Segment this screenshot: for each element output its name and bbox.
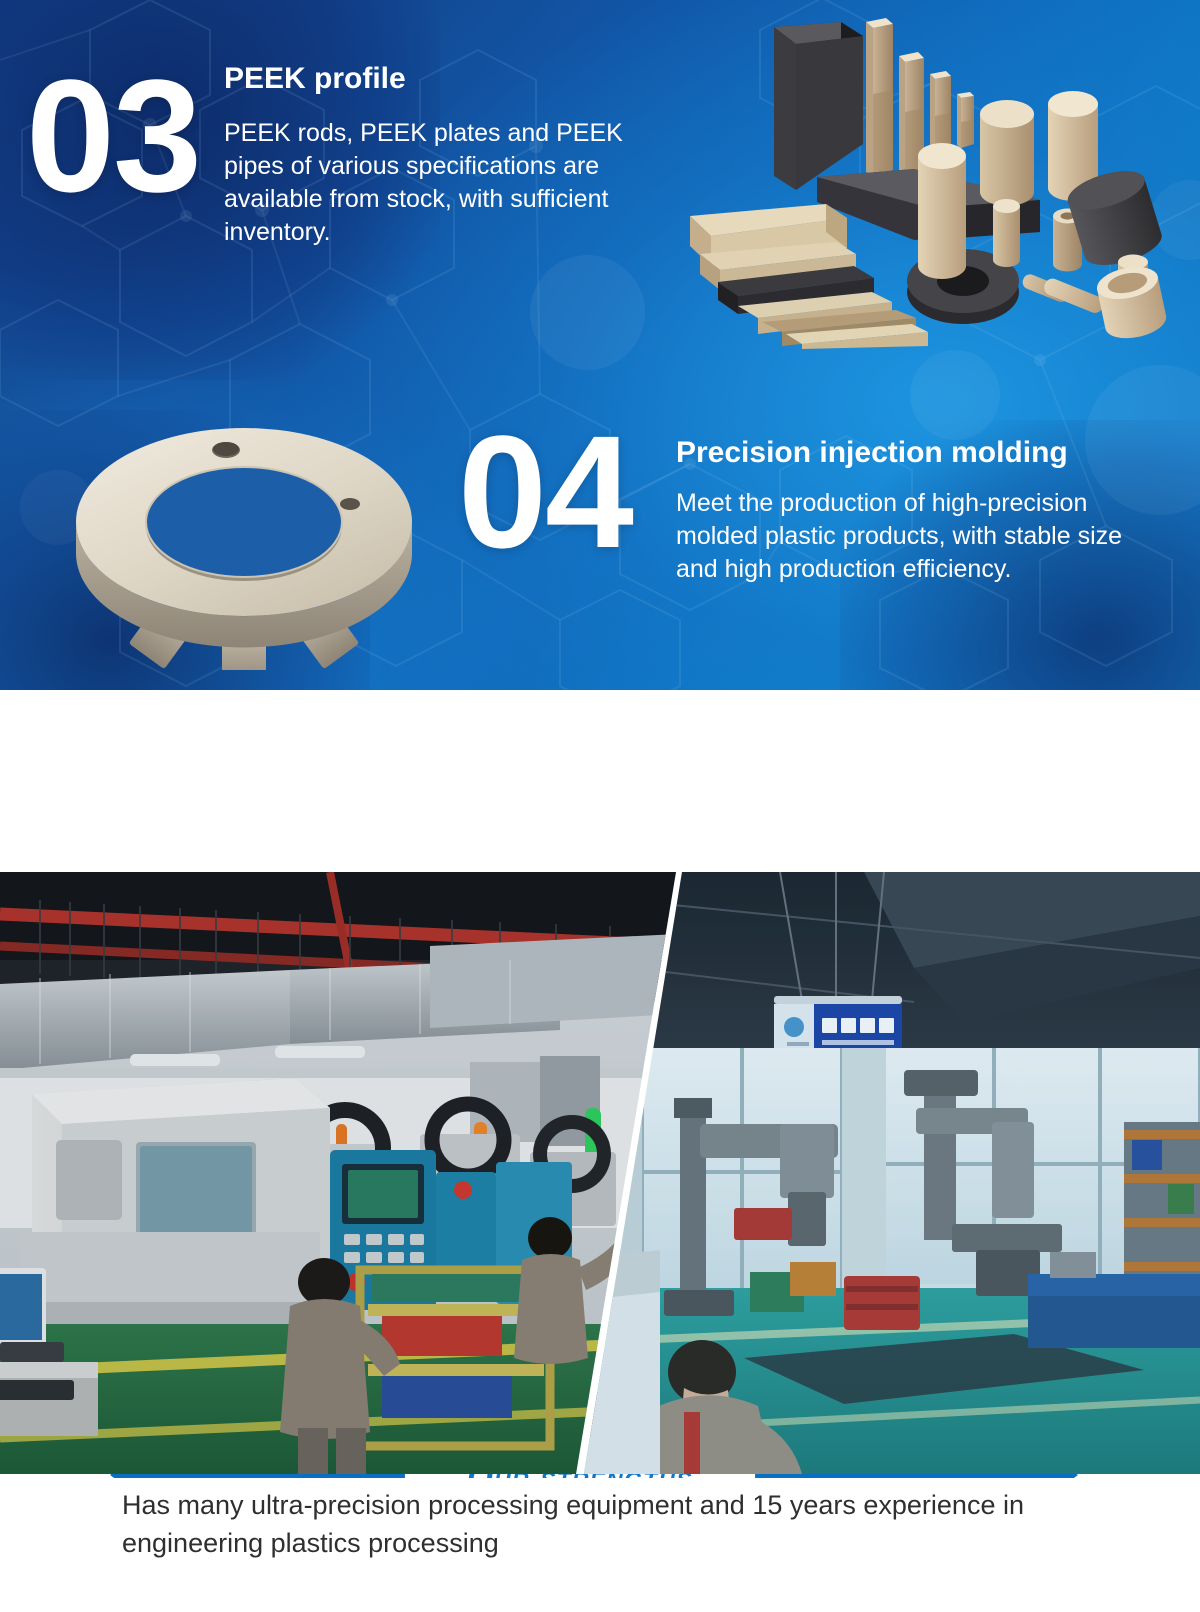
- section-04-text: Precision injection molding Meet the pro…: [676, 436, 1156, 586]
- cnc-workshop-image: [0, 872, 678, 1474]
- cnc-machining-workshop-photo: [0, 872, 678, 1474]
- decorative-circle: [530, 255, 645, 370]
- mold-workshop-image: [584, 872, 1200, 1474]
- section-04-body: Meet the production of high-precision mo…: [676, 487, 1156, 586]
- section-03-body: PEEK rods, PEEK plates and PEEK pipes of…: [224, 117, 654, 249]
- section-03-title: PEEK profile: [224, 62, 654, 95]
- mold-workshop-photo: [584, 872, 1200, 1474]
- section-number-03: 03: [26, 62, 200, 209]
- bottom-caption-text: Has many ultra-precision processing equi…: [122, 1490, 1024, 1558]
- section-03-text: PEEK profile PEEK rods, PEEK plates and …: [224, 62, 654, 249]
- section-number-04: 04: [458, 418, 632, 565]
- peek-molded-gear-ring-photo: [34, 382, 454, 670]
- bottom-caption: Has many ultra-precision processing equi…: [0, 1478, 1200, 1612]
- hero-panel: 03 PEEK profile PEEK rods, PEEK plates a…: [0, 0, 1200, 690]
- section-04-title: Precision injection molding: [676, 436, 1156, 469]
- workshop-photo-collage: [0, 872, 1200, 1474]
- decorative-circle: [910, 350, 1000, 440]
- our-strengths-banner: Our strengths: [0, 690, 1200, 862]
- peek-rods-plates-pipes-photo: [690, 4, 1190, 349]
